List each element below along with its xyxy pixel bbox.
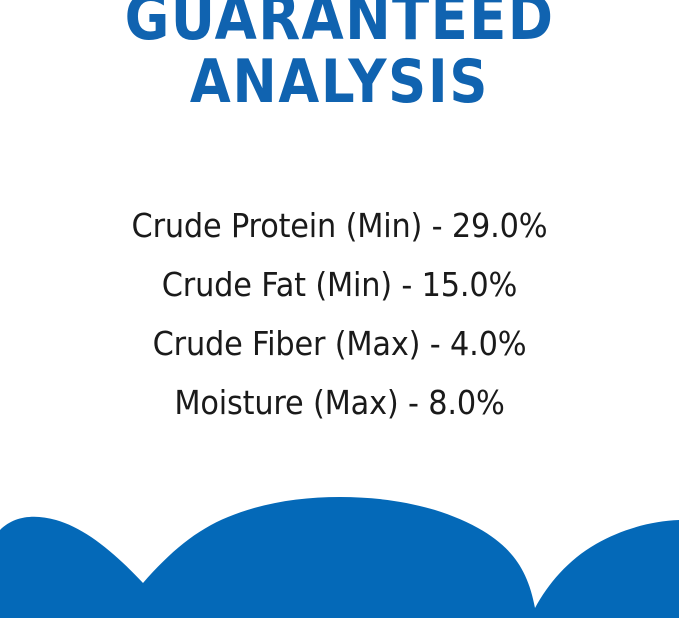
analysis-row-crude-protein: Crude Protein (Min) - 29.0% bbox=[27, 196, 652, 255]
guaranteed-analysis-panel: GUARANTEED ANALYSIS Crude Protein (Min) … bbox=[0, 0, 679, 618]
analysis-row-crude-fiber: Crude Fiber (Max) - 4.0% bbox=[27, 314, 652, 373]
analysis-row-crude-fat: Crude Fat (Min) - 15.0% bbox=[27, 255, 652, 314]
analysis-list: Crude Protein (Min) - 29.0% Crude Fat (M… bbox=[0, 196, 679, 432]
page-title-line-2: ANALYSIS bbox=[41, 50, 639, 114]
analysis-row-moisture: Moisture (Max) - 8.0% bbox=[27, 373, 652, 432]
page-title-line-1: GUARANTEED bbox=[41, 0, 639, 50]
page-title: GUARANTEED ANALYSIS bbox=[0, 0, 679, 114]
scalloped-wave-path bbox=[0, 497, 679, 618]
scalloped-wave-shape bbox=[0, 488, 679, 618]
